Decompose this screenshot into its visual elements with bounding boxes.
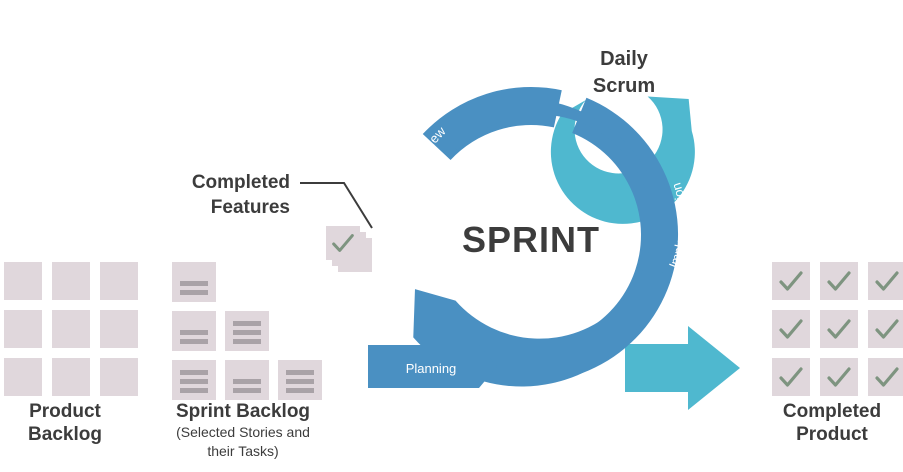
check-icon — [868, 310, 903, 348]
backlog-card[interactable] — [4, 262, 42, 300]
backlog-card[interactable] — [52, 358, 90, 396]
check-icon — [820, 358, 858, 396]
card-row — [172, 311, 322, 351]
card-story-lines — [286, 370, 314, 393]
card-story-lines — [180, 370, 208, 393]
backlog-card[interactable] — [4, 310, 42, 348]
backlog-card[interactable] — [868, 262, 903, 300]
label-review: Review — [410, 123, 449, 167]
daily-scrum-label-line2: Scrum — [593, 75, 655, 97]
backlog-card[interactable] — [100, 310, 138, 348]
daily-scrum-label-line1: Daily — [600, 48, 649, 70]
backlog-card[interactable] — [172, 262, 216, 302]
product-backlog-label: Product Backlog — [0, 400, 130, 446]
backlog-card[interactable] — [820, 310, 858, 348]
backlog-card[interactable] — [172, 360, 216, 400]
card-row — [172, 262, 322, 302]
scrum-diagram-canvas: Product Backlog Sprint Backlog (Selected… — [0, 0, 903, 472]
sprint-backlog-title: Sprint Backlog — [143, 400, 343, 423]
product-backlog-title: Product Backlog — [0, 400, 130, 446]
card-row — [772, 358, 903, 396]
backlog-card[interactable] — [868, 310, 903, 348]
backlog-card[interactable] — [4, 358, 42, 396]
cycle-segment-review[interactable] — [423, 87, 562, 160]
backlog-card[interactable] — [772, 358, 810, 396]
check-icon — [820, 262, 858, 300]
card-row — [4, 262, 138, 300]
card-story-lines — [233, 379, 261, 393]
backlog-card[interactable] — [772, 310, 810, 348]
check-icon — [772, 358, 810, 396]
backlog-card[interactable] — [820, 358, 858, 396]
cycle-segment-implementation[interactable] — [476, 98, 678, 383]
completed-product-title: Completed Product — [762, 400, 902, 446]
backlog-card[interactable] — [172, 311, 216, 351]
sprint-center-label: SPRINT — [462, 219, 600, 260]
daily-scrum-arrow — [551, 96, 695, 223]
label-planning: Planning — [406, 361, 457, 376]
sprint-backlog-sublabel: (Selected Stories and their Tasks) — [143, 423, 343, 461]
check-icon — [820, 310, 858, 348]
backlog-card[interactable] — [52, 262, 90, 300]
label-implementation: Implementation — [666, 181, 690, 270]
card-slot-empty — [225, 262, 269, 302]
completed-feature-card-front[interactable] — [326, 226, 360, 260]
label-retrospect: Retrospect — [381, 215, 402, 283]
card-story-lines — [233, 321, 261, 344]
check-icon — [868, 262, 903, 300]
check-icon — [772, 310, 810, 348]
backlog-card[interactable] — [100, 358, 138, 396]
completed-features-card-stack — [326, 226, 374, 286]
backlog-card[interactable] — [225, 360, 269, 400]
check-icon — [868, 358, 903, 396]
completed-features-label: Completed Features — [140, 170, 290, 220]
card-row — [772, 262, 903, 300]
check-icon — [772, 262, 810, 300]
backlog-card[interactable] — [820, 262, 858, 300]
completed-product-arrow — [625, 326, 740, 410]
backlog-card[interactable] — [868, 358, 903, 396]
completed-product-grid — [772, 262, 903, 406]
cycle-segment-retrospect[interactable] — [413, 98, 665, 386]
product-backlog-grid — [4, 262, 138, 406]
backlog-card[interactable] — [278, 360, 322, 400]
backlog-card[interactable] — [52, 310, 90, 348]
card-row — [4, 358, 138, 396]
card-slot-empty — [278, 262, 322, 302]
card-row — [772, 310, 903, 348]
card-row — [172, 360, 322, 400]
sprint-backlog-label: Sprint Backlog (Selected Stories and the… — [143, 400, 343, 461]
card-story-lines — [180, 330, 208, 344]
check-icon — [326, 226, 360, 260]
backlog-card[interactable] — [100, 262, 138, 300]
backlog-card[interactable] — [772, 262, 810, 300]
completed-features-leader-line — [300, 183, 372, 228]
completed-product-label: Completed Product — [762, 400, 902, 446]
card-slot-empty — [278, 311, 322, 351]
card-story-lines — [180, 281, 208, 295]
sprint-backlog-grid — [172, 262, 322, 409]
card-row — [4, 310, 138, 348]
cycle-segment-planning[interactable] — [368, 345, 497, 388]
backlog-card[interactable] — [225, 311, 269, 351]
